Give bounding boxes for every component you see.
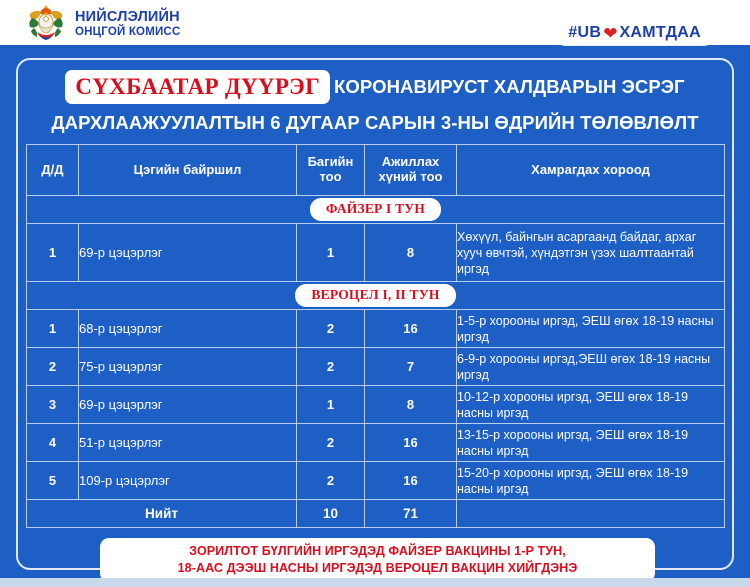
vaccination-schedule-poster: НИЙСЛЭЛИЙН ОНЦГОЙ КОМИСС #UB ❤ ХАМТДАА С… <box>0 0 750 587</box>
organization-logo: НИЙСЛЭЛИЙН ОНЦГОЙ КОМИСС <box>24 2 180 46</box>
organization-name: НИЙСЛЭЛИЙН ОНЦГОЙ КОМИСС <box>75 9 180 38</box>
column-header-staff: Ажиллах хүний тоо <box>365 145 457 196</box>
column-header-teams-line2: тоо <box>297 170 364 185</box>
total-teams: 10 <box>297 500 365 528</box>
cell-areas: Хөхүүл, байнгын асаргаанд байдаг, архаг … <box>457 224 725 282</box>
cell-teams: 2 <box>297 348 365 386</box>
cell-no: 2 <box>27 348 79 386</box>
column-header-teams: Багийн тоо <box>297 145 365 196</box>
cell-location: 109-р цэцэрлэг <box>79 462 297 500</box>
table-row: 3 69-р цэцэрлэг 1 8 10-12-р хорооны иргэ… <box>27 386 725 424</box>
hashtag-suffix: ХАМТДАА <box>619 24 701 42</box>
cell-no: 4 <box>27 424 79 462</box>
total-label: Нийт <box>27 500 297 528</box>
cell-location: 51-р цэцэрлэг <box>79 424 297 462</box>
table-header-row: Д/Д Цэгийн байршил Багийн тоо Ажиллах хү… <box>27 145 725 196</box>
cell-teams: 1 <box>297 386 365 424</box>
cell-areas: 6-9-р хорооны иргэд,ЭЕШ өгөх 18-19 насны… <box>457 348 725 386</box>
cell-areas: 1-5-р хорооны иргэд, ЭЕШ өгөх 18-19 насн… <box>457 310 725 348</box>
column-header-staff-line2: хүний тоо <box>365 170 456 185</box>
cell-areas: 13-15-р хорооны иргэд, ЭЕШ өгөх 18-19 на… <box>457 424 725 462</box>
cell-no: 1 <box>27 224 79 282</box>
table-row: 4 51-р цэцэрлэг 2 16 13-15-р хорооны ирг… <box>27 424 725 462</box>
cell-teams: 2 <box>297 424 365 462</box>
schedule-table: Д/Д Цэгийн байршил Багийн тоо Ажиллах хү… <box>26 144 725 528</box>
total-areas <box>457 500 725 528</box>
district-badge: СҮХБААТАР ДҮҮРЭГ <box>65 70 330 104</box>
cell-staff: 8 <box>365 224 457 282</box>
total-staff: 71 <box>365 500 457 528</box>
cell-location: 69-р цэцэрлэг <box>79 224 297 282</box>
hashtag-badge: #UB ❤ ХАМТДАА <box>554 22 715 45</box>
cell-location: 69-р цэцэрлэг <box>79 386 297 424</box>
cell-areas: 10-12-р хорооны иргэд, ЭЕШ өгөх 18-19 на… <box>457 386 725 424</box>
column-header-teams-line1: Багийн <box>297 155 364 170</box>
title-line-1-rest: КОРОНАВИРУСТ ХАЛДВАРЫН ЭСРЭГ <box>334 76 685 98</box>
cell-staff: 16 <box>365 462 457 500</box>
schedule-table-wrapper: Д/Д Цэгийн байршил Багийн тоо Ажиллах хү… <box>26 144 724 528</box>
cell-no: 1 <box>27 310 79 348</box>
bottom-strip <box>0 578 750 587</box>
column-header-staff-line1: Ажиллах <box>365 155 456 170</box>
table-total-row: Нийт 10 71 <box>27 500 725 528</box>
table-body: ФАЙЗЕР I ТУН 1 69-р цэцэрлэг 1 8 Хөхүүл,… <box>27 196 725 528</box>
page-title: СҮХБААТАР ДҮҮРЭГ КОРОНАВИРУСТ ХАЛДВАРЫН … <box>30 70 720 134</box>
table-row: 5 109-р цэцэрлэг 2 16 15-20-р хорооны ир… <box>27 462 725 500</box>
column-header-no: Д/Д <box>27 145 79 196</box>
table-header: Д/Д Цэгийн байршил Багийн тоо Ажиллах хү… <box>27 145 725 196</box>
section-badge-verocell: ВЕРОЦЕЛ I, II ТУН <box>295 284 455 307</box>
heart-icon: ❤ <box>603 25 617 42</box>
section-header-row: ВЕРОЦЕЛ I, II ТУН <box>27 282 725 310</box>
section-header-cell: ФАЙЗЕР I ТУН <box>27 196 725 224</box>
cell-teams: 2 <box>297 310 365 348</box>
cell-staff: 16 <box>365 310 457 348</box>
column-header-areas: Хамрагдах хороод <box>457 145 725 196</box>
table-row: 2 75-р цэцэрлэг 2 7 6-9-р хорооны иргэд,… <box>27 348 725 386</box>
footer-notice-banner: ЗОРИЛТОТ БҮЛГИЙН ИРГЭДЭД ФАЙЗЕР ВАКЦИНЫ … <box>100 538 655 582</box>
column-header-location: Цэгийн байршил <box>79 145 297 196</box>
title-line-1: СҮХБААТАР ДҮҮРЭГ КОРОНАВИРУСТ ХАЛДВАРЫН … <box>30 70 720 104</box>
cell-location: 68-р цэцэрлэг <box>79 310 297 348</box>
hashtag-prefix: #UB <box>568 24 601 42</box>
footer-line-1: ЗОРИЛТОТ БҮЛГИЙН ИРГЭДЭД ФАЙЗЕР ВАКЦИНЫ … <box>110 543 645 560</box>
cell-location: 75-р цэцэрлэг <box>79 348 297 386</box>
table-row: 1 69-р цэцэрлэг 1 8 Хөхүүл, байнгын асар… <box>27 224 725 282</box>
section-header-row: ФАЙЗЕР I ТУН <box>27 196 725 224</box>
org-line-1: НИЙСЛЭЛИЙН <box>75 9 180 25</box>
cell-no: 3 <box>27 386 79 424</box>
cell-staff: 8 <box>365 386 457 424</box>
cell-staff: 7 <box>365 348 457 386</box>
title-line-2: ДАРХЛААЖУУЛАЛТЫН 6 ДУГААР САРЫН 3-НЫ ӨДР… <box>30 112 720 134</box>
cell-areas: 15-20-р хорооны иргэд, ЭЕШ өгөх 18-19 на… <box>457 462 725 500</box>
footer-line-2: 18-ААС ДЭЭШ НАСНЫ ИРГЭДЭД ВЕРОЦЕЛ ВАКЦИН… <box>110 560 645 577</box>
mongolia-emblem-icon <box>24 2 68 46</box>
cell-teams: 2 <box>297 462 365 500</box>
cell-teams: 1 <box>297 224 365 282</box>
cell-no: 5 <box>27 462 79 500</box>
section-header-cell: ВЕРОЦЕЛ I, II ТУН <box>27 282 725 310</box>
section-badge-pfizer: ФАЙЗЕР I ТУН <box>310 198 441 221</box>
table-row: 1 68-р цэцэрлэг 2 16 1-5-р хорооны иргэд… <box>27 310 725 348</box>
org-line-2: ОНЦГОЙ КОМИСС <box>75 26 180 39</box>
cell-staff: 16 <box>365 424 457 462</box>
